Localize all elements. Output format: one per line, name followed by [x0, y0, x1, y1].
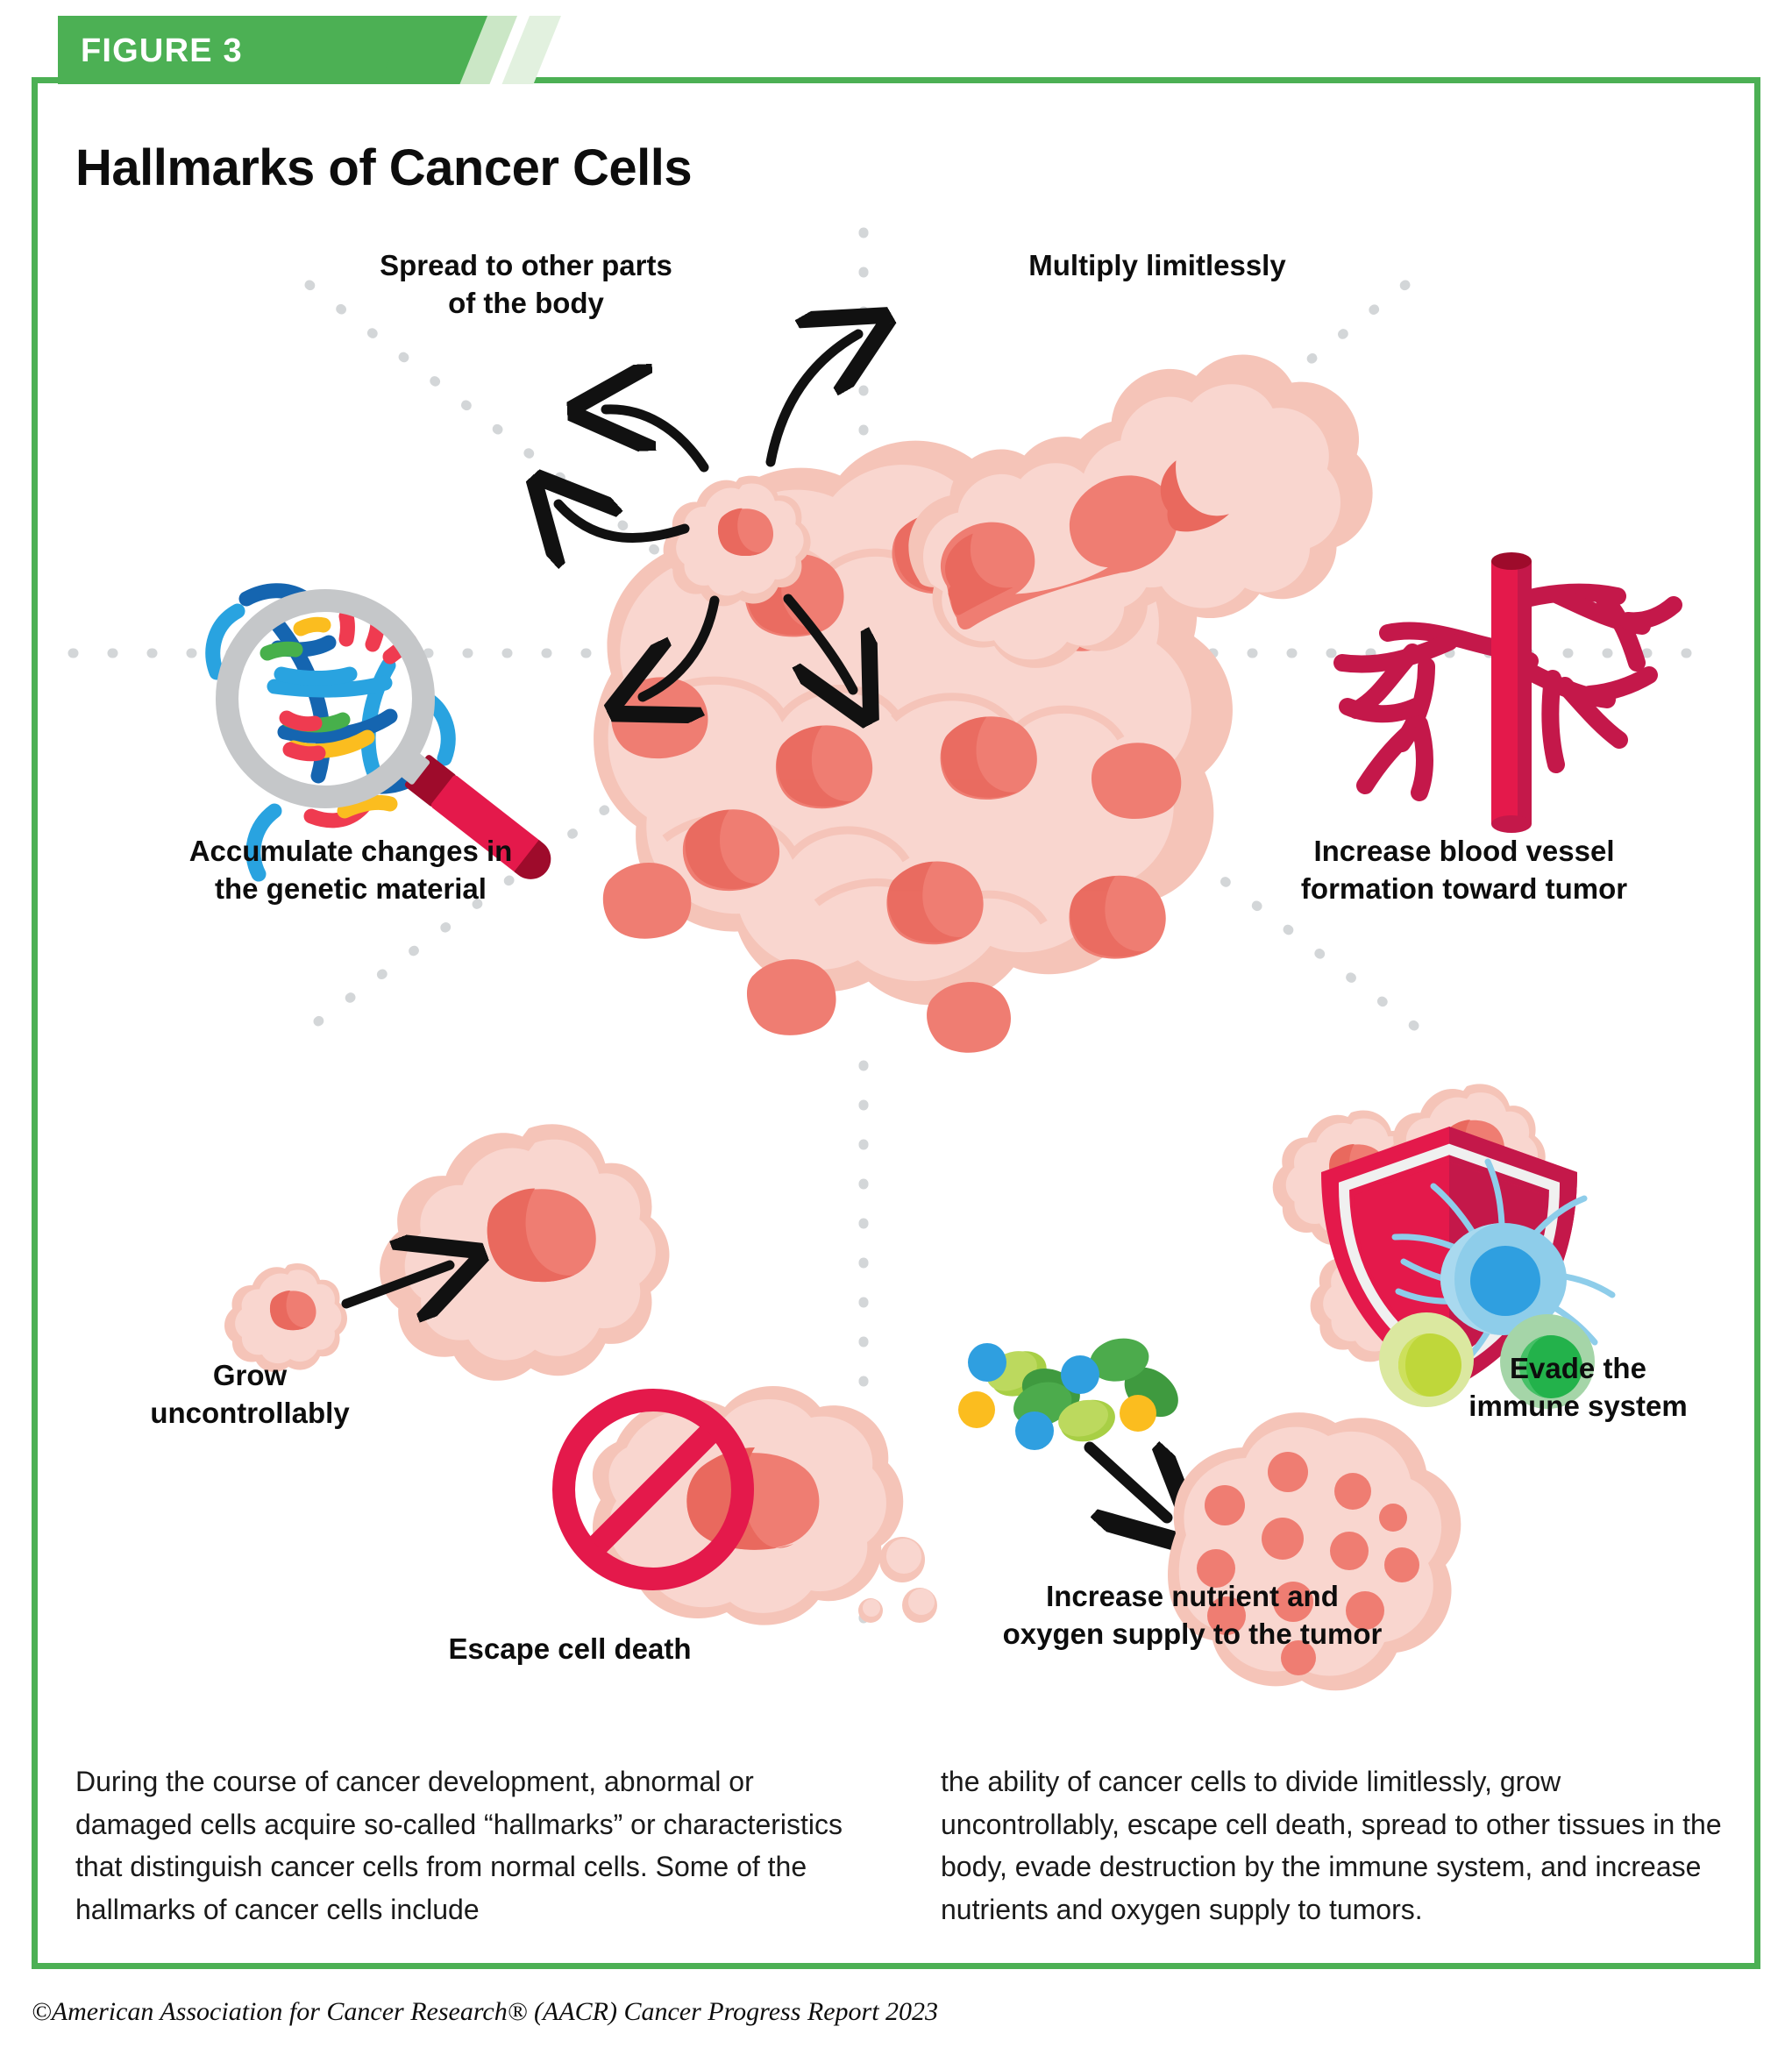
hallmark-label-spread: Spread to other parts of the body	[298, 247, 754, 323]
hallmark-label-vessel: Increase blood vessel formation toward t…	[1219, 833, 1710, 908]
copyright-line: ©American Association for Cancer Researc…	[32, 1997, 938, 2027]
hallmark-label-nutrient: Increase nutrient and oxygen supply to t…	[929, 1578, 1455, 1653]
page-title: Hallmarks of Cancer Cells	[75, 139, 692, 197]
blood-vessel-icon	[1342, 552, 1674, 833]
no-apoptosis-icon	[564, 1386, 937, 1625]
hallmark-label-genetic: Accumulate changes in the genetic materi…	[96, 833, 605, 908]
hallmark-label-grow: Grow uncontrollably	[105, 1357, 395, 1433]
growing-cell-icon	[224, 1124, 669, 1381]
hallmark-label-escape: Escape cell death	[351, 1631, 789, 1668]
hallmark-label-multiply: Multiply limitlessly	[947, 247, 1368, 285]
hallmark-label-immune: Evade the immune system	[1403, 1350, 1753, 1426]
figure-caption: During the course of cancer development,…	[75, 1760, 1724, 1931]
figure-number-label: FIGURE 3	[81, 32, 243, 70]
caption-column-left: During the course of cancer development,…	[75, 1760, 858, 1931]
figure-banner: FIGURE 3	[58, 16, 496, 84]
caption-column-right: the ability of cancer cells to divide li…	[941, 1760, 1724, 1931]
